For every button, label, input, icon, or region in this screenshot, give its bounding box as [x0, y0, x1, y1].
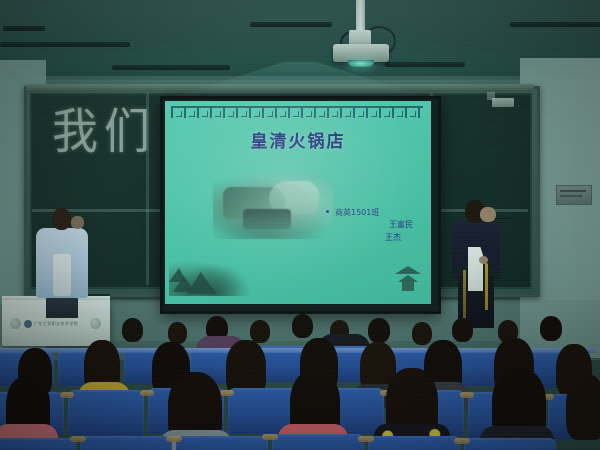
- meander-unit-inner: [306, 111, 312, 117]
- ceiling-light-4: [112, 65, 230, 70]
- presenter-right-head: [465, 200, 485, 223]
- audience-hair: [566, 374, 600, 440]
- meander-unit: [288, 106, 301, 118]
- presenter-left-jacket: [36, 228, 88, 298]
- seat[interactable]: [0, 438, 76, 450]
- meander-unit: [197, 106, 210, 118]
- meander-unit-inner: [202, 111, 208, 117]
- mountain-peak-2: [187, 272, 217, 294]
- meander-unit: [275, 106, 288, 118]
- meander-unit-inner: [241, 111, 247, 117]
- seat-armrest: [166, 436, 182, 442]
- presenter-right-shirt: [468, 247, 483, 291]
- seat[interactable]: [68, 390, 144, 436]
- meander-unit: [327, 106, 340, 118]
- audience-head: [292, 314, 313, 338]
- audience-head: [122, 318, 143, 342]
- seat-armrest: [140, 390, 154, 396]
- presenter-left-face: [71, 216, 84, 229]
- meander-unit: [340, 106, 353, 118]
- meander-unit-inner: [397, 111, 403, 117]
- meander-unit: [418, 106, 423, 118]
- meander-unit: [353, 106, 366, 118]
- lectern-logo-mark-icon: [24, 320, 32, 328]
- ceiling-light-6: [3, 26, 45, 31]
- meander-unit-inner: [228, 111, 234, 117]
- lectern-speaker-left: [10, 318, 21, 329]
- classroom-scene: 我们 皇清火锅店 商英1501班 王富民 王杰: [0, 0, 600, 450]
- seat[interactable]: [368, 436, 460, 450]
- seat-armrest: [262, 434, 278, 440]
- seat[interactable]: [272, 434, 364, 450]
- lectern-speaker-right: [90, 318, 101, 329]
- meander-unit-inner: [384, 111, 390, 117]
- meander-unit: [210, 106, 223, 118]
- presenter-right-face: [480, 207, 496, 222]
- audience-head: [540, 316, 562, 341]
- pagoda-base: [402, 282, 414, 291]
- presenter-left-head: [52, 208, 71, 230]
- ink-mountain-decoration: [169, 254, 253, 296]
- bullet-dot-icon: [326, 210, 329, 213]
- seat[interactable]: [464, 438, 556, 450]
- blackboard-divider-1: [146, 93, 149, 285]
- pagoda-roof-1: [395, 266, 421, 274]
- slide-title: 皇清火锅店: [165, 127, 431, 152]
- audience-head: [452, 318, 473, 342]
- pagoda-roof-2: [398, 275, 418, 282]
- meander-unit: [392, 106, 405, 118]
- ceiling-light-2: [250, 22, 332, 27]
- mountain-peak-3: [169, 268, 187, 282]
- presenter-right-stripe-2: [463, 270, 466, 322]
- seat-armrest: [220, 390, 234, 396]
- slide-bullet-3: 王杰: [335, 232, 427, 244]
- projection-screen: 皇清火锅店 商英1501班 王富民 王杰: [165, 101, 431, 304]
- presenter-left: [36, 208, 88, 316]
- slide-bullet-list: 商英1501班 王富民 王杰: [335, 207, 427, 244]
- meander-unit-inner: [410, 111, 416, 117]
- audience-head: [168, 322, 187, 344]
- slide-bullet-2: 王富民: [335, 219, 427, 231]
- blackboard-clip: [492, 98, 514, 107]
- audience-head: [412, 322, 432, 345]
- seat-armrest: [454, 438, 470, 444]
- audience-head: [368, 318, 390, 343]
- seat[interactable]: [176, 436, 268, 450]
- meander-unit-inner: [332, 111, 338, 117]
- seat-armrest: [60, 392, 74, 398]
- seat[interactable]: [80, 436, 172, 450]
- hotpot-vessel-3: [243, 209, 291, 229]
- meander-unit-inner: [293, 111, 299, 117]
- lectern-logo-text: 广东工贸职业技术学院: [34, 321, 78, 327]
- wall-plaque: [556, 185, 592, 205]
- meander-unit-inner: [254, 111, 260, 117]
- meander-unit-inner: [215, 111, 221, 117]
- meander-unit: [262, 106, 275, 118]
- meander-unit: [223, 106, 236, 118]
- meander-unit-inner: [371, 111, 377, 117]
- seat-armrest: [460, 392, 474, 398]
- meander-unit-inner: [319, 111, 325, 117]
- slide-photo: [213, 173, 333, 239]
- ceiling-light-3: [510, 22, 600, 27]
- meander-unit-inner: [345, 111, 351, 117]
- ceiling-light-5: [385, 62, 465, 67]
- meander-unit: [314, 106, 327, 118]
- glasses-icon: [495, 218, 511, 222]
- meander-unit-inner: [189, 111, 195, 117]
- meander-unit: [171, 106, 184, 118]
- blackboard-top-rail: [26, 84, 534, 92]
- meander-unit: [184, 106, 197, 118]
- meander-unit: [236, 106, 249, 118]
- meander-unit: [379, 106, 392, 118]
- meander-unit-inner: [358, 111, 364, 117]
- projector-lens: [348, 60, 374, 67]
- seat-armrest: [70, 436, 86, 442]
- meander-unit-inner: [267, 111, 273, 117]
- lectern-logo: 广东工贸职业技术学院: [24, 319, 82, 329]
- slide-border-pattern: [171, 105, 423, 118]
- presenter-right-hand: [479, 256, 488, 264]
- meander-unit-inner: [176, 111, 182, 117]
- slide-bullet-1: 商英1501班: [335, 207, 427, 219]
- presenter-left-shirt: [53, 254, 71, 296]
- meander-unit-inner: [280, 111, 286, 117]
- meander-unit: [249, 106, 262, 118]
- presenter-right: [452, 200, 500, 328]
- meander-unit: [366, 106, 379, 118]
- meander-unit: [405, 106, 418, 118]
- ceiling-light-1: [0, 42, 130, 47]
- projector-pole: [356, 0, 365, 34]
- seat-armrest: [358, 436, 374, 442]
- pagoda-decoration: [393, 266, 423, 292]
- presenter-left-legs: [46, 296, 78, 318]
- meander-unit: [301, 106, 314, 118]
- audience-head: [250, 320, 270, 343]
